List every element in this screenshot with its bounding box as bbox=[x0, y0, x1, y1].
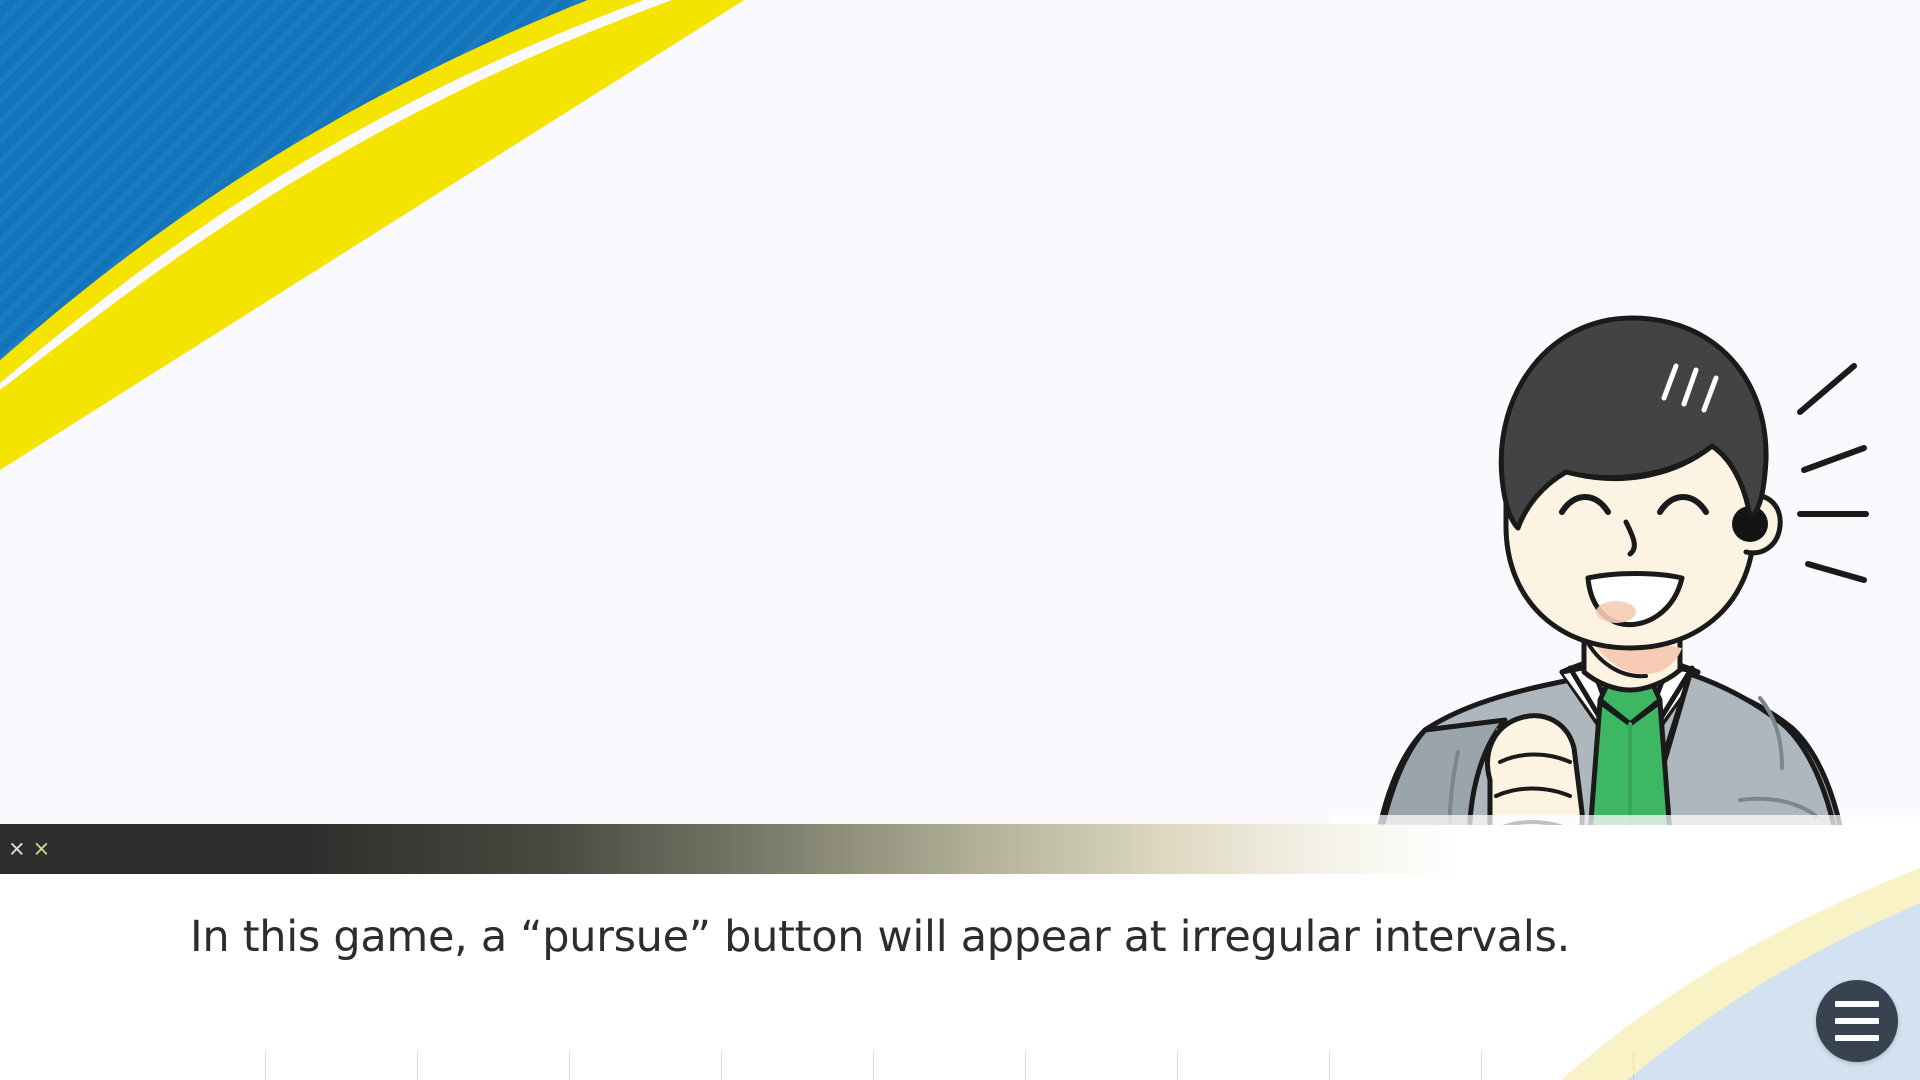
subtitle-progress-bar[interactable]: × × bbox=[0, 824, 1460, 874]
subtitle-marks: × × bbox=[8, 839, 50, 860]
blue-yellow-corner-swoosh bbox=[0, 0, 900, 520]
close-mark-icon-1: × bbox=[8, 839, 26, 860]
slide-content-area bbox=[0, 0, 1920, 825]
close-mark-icon-2: × bbox=[33, 839, 51, 860]
slide-stage: × × In this game, a “pursue” button will… bbox=[0, 0, 1920, 1080]
hamburger-menu-button[interactable] bbox=[1816, 980, 1898, 1062]
caption-area: In this game, a “pursue” button will app… bbox=[0, 874, 1920, 1080]
smiling-businessman bbox=[1330, 300, 1920, 825]
caption-text: In this game, a “pursue” button will app… bbox=[190, 912, 1570, 962]
hamburger-bar-icon bbox=[1835, 1018, 1879, 1024]
hamburger-bar-icon bbox=[1835, 1035, 1879, 1041]
hamburger-bar-icon bbox=[1835, 1001, 1879, 1007]
